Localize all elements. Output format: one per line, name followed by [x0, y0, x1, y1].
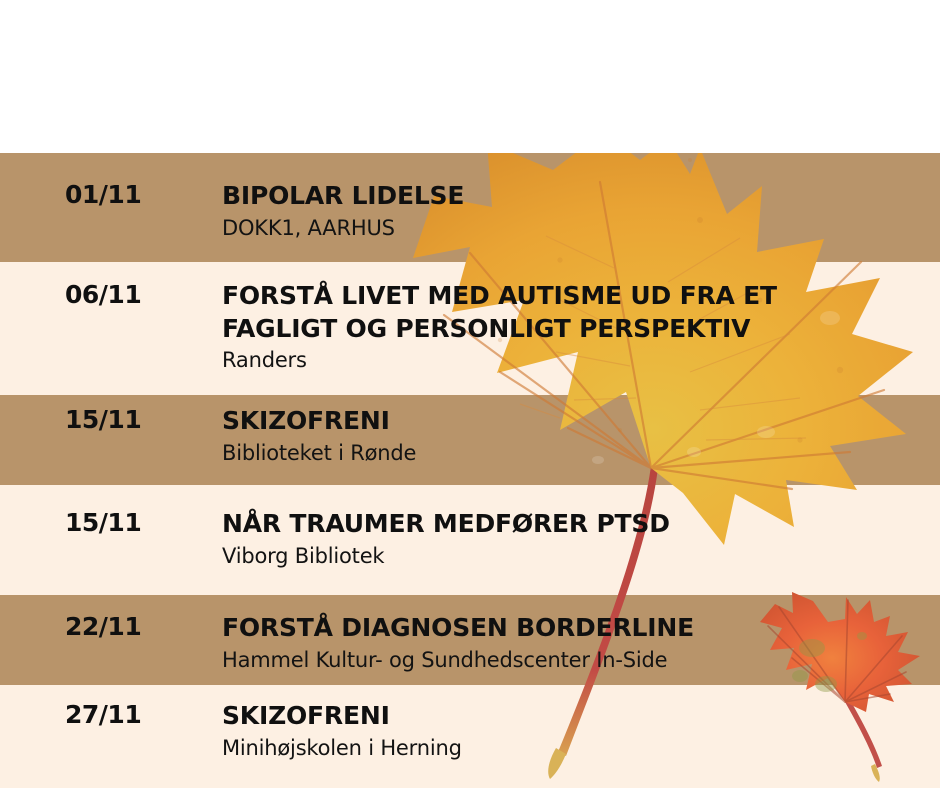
event-date: 15/11 — [0, 405, 222, 434]
event-title: SKIZOFRENI — [222, 700, 940, 733]
event-date: 15/11 — [0, 508, 222, 537]
event-row: 15/11 NÅR TRAUMER MEDFØRER PTSD Viborg B… — [0, 508, 940, 570]
event-row: 15/11 SKIZOFRENI Biblioteket i Rønde — [0, 405, 940, 467]
event-venue: DOKK1, AARHUS — [222, 215, 940, 242]
poster-canvas: Temaaftener i november 01/11 BIPOLAR LID… — [0, 0, 940, 788]
event-title: NÅR TRAUMER MEDFØRER PTSD — [222, 508, 940, 541]
event-venue: Randers — [222, 347, 940, 374]
event-title: FORSTÅ LIVET MED AUTISME UD FRA ET FAGLI… — [222, 280, 940, 345]
event-row: 06/11 FORSTÅ LIVET MED AUTISME UD FRA ET… — [0, 280, 940, 374]
event-date: 22/11 — [0, 612, 222, 641]
event-date: 01/11 — [0, 180, 222, 209]
event-row: 27/11 SKIZOFRENI Minihøjskolen i Herning — [0, 700, 940, 762]
event-date: 06/11 — [0, 280, 222, 309]
event-venue: Minihøjskolen i Herning — [222, 735, 940, 762]
event-title: SKIZOFRENI — [222, 405, 940, 438]
event-body: BIPOLAR LIDELSE DOKK1, AARHUS — [222, 180, 940, 242]
event-body: NÅR TRAUMER MEDFØRER PTSD Viborg Bibliot… — [222, 508, 940, 570]
event-venue: Biblioteket i Rønde — [222, 440, 940, 467]
event-body: FORSTÅ DIAGNOSEN BORDERLINE Hammel Kultu… — [222, 612, 940, 674]
event-title: BIPOLAR LIDELSE — [222, 180, 940, 213]
event-body: SKIZOFRENI Biblioteket i Rønde — [222, 405, 940, 467]
event-date: 27/11 — [0, 700, 222, 729]
event-venue: Viborg Bibliotek — [222, 543, 940, 570]
event-row: 01/11 BIPOLAR LIDELSE DOKK1, AARHUS — [0, 180, 940, 242]
title-band — [0, 0, 940, 153]
event-body: FORSTÅ LIVET MED AUTISME UD FRA ET FAGLI… — [222, 280, 940, 374]
event-venue: Hammel Kultur- og Sundhedscenter In-Side — [222, 647, 940, 674]
event-row: 22/11 FORSTÅ DIAGNOSEN BORDERLINE Hammel… — [0, 612, 940, 674]
event-title: FORSTÅ DIAGNOSEN BORDERLINE — [222, 612, 940, 645]
event-body: SKIZOFRENI Minihøjskolen i Herning — [222, 700, 940, 762]
